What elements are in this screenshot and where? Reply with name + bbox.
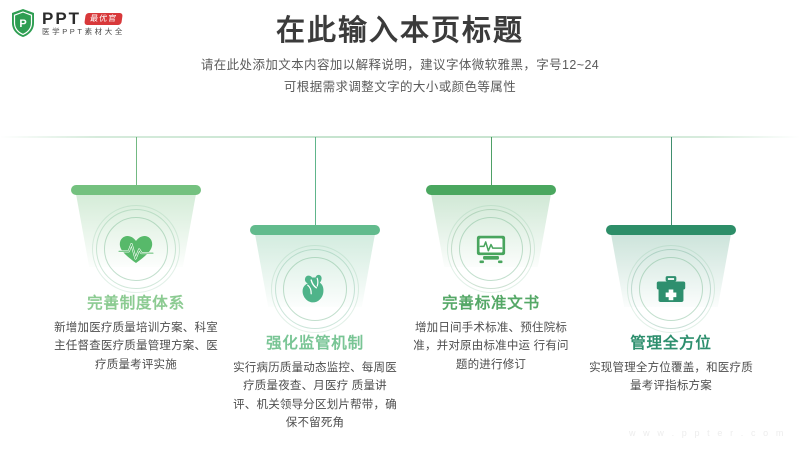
column-heading-1: 完善制度体系 bbox=[43, 295, 229, 314]
lamp-cord-1 bbox=[136, 137, 137, 185]
icon-ring-3 bbox=[451, 209, 531, 289]
column-description-1: 新增加医疗质量培训方案、科室主任督查医疗质量管理方案、医疗质量考评实施 bbox=[43, 319, 229, 375]
ecg-monitor-icon bbox=[471, 229, 511, 269]
anatomical-heart-icon bbox=[295, 269, 335, 309]
lamp-bar-3 bbox=[426, 185, 556, 195]
lamp-cord-4 bbox=[671, 137, 672, 225]
column-description-2: 实行病历质量动态监控、每周医疗质量夜查、月医疗 质量讲评、机关领导分区划片帮带，… bbox=[222, 359, 408, 434]
lamp-columns: 完善制度体系 新增加医疗质量培训方案、科室主任督查医疗质量管理方案、医疗质量考评… bbox=[0, 0, 800, 450]
lamp-cord-3 bbox=[491, 137, 492, 185]
column-description-4: 实现管理全方位覆盖，和医疗质量考评指标方案 bbox=[578, 359, 764, 396]
lamp-bar-4 bbox=[606, 225, 736, 235]
column-description-3: 增加日间手术标准、预住院标准，并对原由标准中运 行有问题的进行修订 bbox=[398, 319, 584, 375]
heart-pulse-icon bbox=[116, 229, 156, 269]
medical-kit-icon bbox=[651, 269, 691, 309]
lamp-bar-2 bbox=[250, 225, 380, 235]
column-heading-4: 管理全方位 bbox=[578, 335, 764, 354]
site-watermark: w w w . p p t e r . c o m bbox=[629, 428, 786, 438]
column-heading-2: 强化监管机制 bbox=[222, 335, 408, 354]
lamp-cord-2 bbox=[315, 137, 316, 225]
icon-ring-1 bbox=[96, 209, 176, 289]
icon-ring-4 bbox=[631, 249, 711, 329]
column-heading-3: 完善标准文书 bbox=[398, 295, 584, 314]
icon-ring-2 bbox=[275, 249, 355, 329]
lamp-bar-1 bbox=[71, 185, 201, 195]
